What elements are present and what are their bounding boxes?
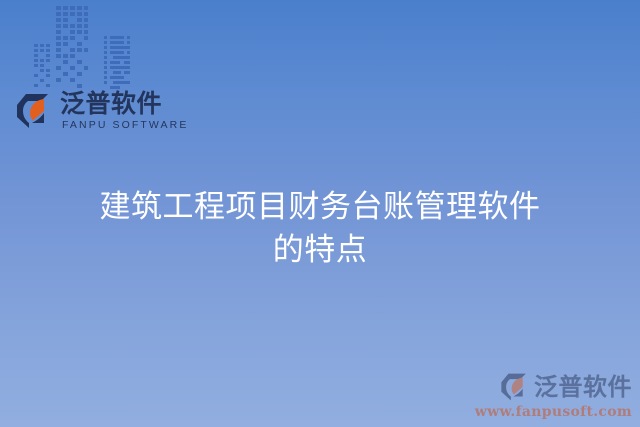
fanpu-logo-mark-icon bbox=[14, 92, 52, 130]
watermark-name-cn: 泛普软件 bbox=[534, 375, 632, 399]
brand-logo-lockup: 泛普软件 FANPU SOFTWARE bbox=[14, 90, 188, 131]
pixel-building-skyline-icon bbox=[34, 0, 164, 95]
page-title-line-2: 的特点 bbox=[40, 229, 600, 272]
fanpu-logo-mark-icon bbox=[499, 372, 529, 402]
watermark-url: www.fanpusoft.com bbox=[475, 405, 632, 419]
page-title: 建筑工程项目财务台账管理软件 的特点 bbox=[0, 186, 640, 272]
page-title-line-1: 建筑工程项目财务台账管理软件 bbox=[40, 186, 600, 229]
brand-name-en: FANPU SOFTWARE bbox=[60, 119, 188, 131]
watermark-logo-lockup: 泛普软件 bbox=[475, 372, 632, 402]
slide-canvas: 泛普软件 FANPU SOFTWARE 建筑工程项目财务台账管理软件 的特点 泛… bbox=[0, 0, 640, 427]
watermark: 泛普软件 www.fanpusoft.com bbox=[475, 372, 632, 419]
brand-name-cn: 泛普软件 bbox=[60, 91, 188, 117]
